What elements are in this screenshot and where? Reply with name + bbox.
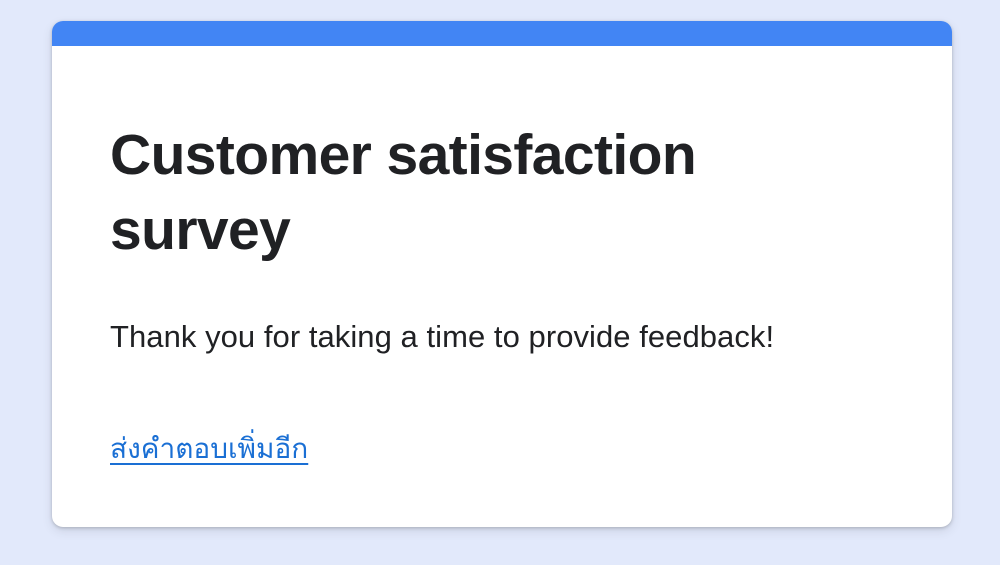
page-title: Customer satisfaction survey: [110, 118, 870, 268]
card-accent-bar: [52, 21, 952, 46]
card-body: Customer satisfaction survey Thank you f…: [52, 46, 952, 527]
form-confirmation-card: Customer satisfaction survey Thank you f…: [52, 21, 952, 527]
confirmation-message: Thank you for taking a time to provide f…: [110, 268, 894, 358]
submit-another-response-link[interactable]: ส่งคำตอบเพิ่มอีก: [110, 431, 308, 467]
page-viewport: Customer satisfaction survey Thank you f…: [0, 0, 1000, 565]
